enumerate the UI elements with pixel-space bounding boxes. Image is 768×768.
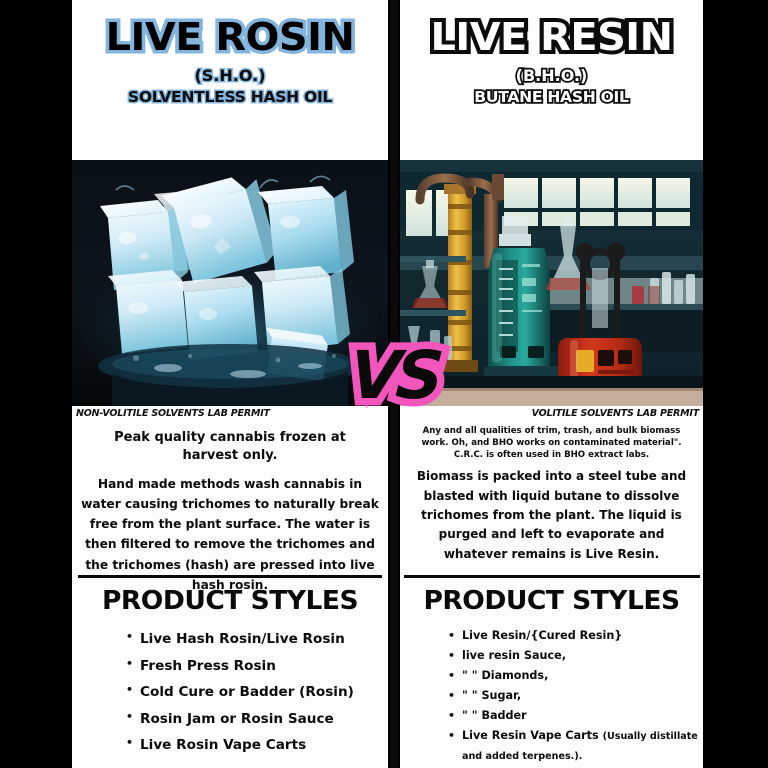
list-item: live resin Sauce,	[462, 646, 703, 666]
body-left: Peak quality cannabis frozen at harvest …	[72, 419, 388, 595]
versus-label: VS	[347, 337, 441, 414]
list-item-main: Live Resin Vape Carts	[462, 729, 603, 742]
list-item: Live Rosin Vape Carts	[140, 732, 388, 759]
lead-text-left: Peak quality cannabis frozen at harvest …	[88, 429, 372, 464]
versus-badge: VS	[333, 326, 455, 424]
header-live-rosin: LIVE ROSIN (S.H.O.) SOLVENTLESS HASH OIL	[72, 18, 388, 160]
list-item: Live Hash Rosin/Live Rosin	[140, 626, 388, 653]
list-item: Live Resin Vape Carts (Usually distillat…	[462, 726, 703, 766]
list-item-main: " " Badder	[462, 709, 527, 722]
comparison-infographic: LIVE ROSIN (S.H.O.) SOLVENTLESS HASH OIL	[0, 0, 768, 768]
divider-rule-left	[78, 575, 382, 578]
abbr-live-rosin: (S.H.O.)	[72, 66, 388, 85]
list-item: Live Resin/{Cured Resin}	[462, 626, 703, 646]
list-item: " " Sugar,	[462, 686, 703, 706]
list-item: Rosin Jam or Rosin Sauce	[140, 706, 388, 733]
product-styles-right: PRODUCT STYLES Live Resin/{Cured Resin}l…	[400, 586, 703, 766]
styles-list-right: Live Resin/{Cured Resin}live resin Sauce…	[462, 626, 703, 766]
styles-title-right: PRODUCT STYLES	[400, 586, 703, 616]
divider-rule-right	[404, 575, 700, 578]
subtitle-live-resin: BUTANE HASH OIL	[400, 88, 703, 106]
lead-text-right: Any and all qualities of trim, trash, an…	[420, 425, 683, 461]
list-item: " " Diamonds,	[462, 666, 703, 686]
title-live-resin: LIVE RESIN	[400, 18, 703, 56]
list-item-main: live resin Sauce,	[462, 649, 566, 662]
list-item-main: " " Sugar,	[462, 689, 521, 702]
title-live-rosin: LIVE ROSIN	[72, 18, 388, 56]
list-item: Fresh Press Rosin	[140, 653, 388, 680]
body-right: Any and all qualities of trim, trash, an…	[400, 419, 703, 564]
body-text-right: Biomass is packed into a steel tube and …	[408, 467, 695, 564]
list-item-main: Live Resin/{Cured Resin}	[462, 629, 622, 642]
abbr-live-resin: (B.H.O.)	[400, 66, 703, 85]
list-item-main: " " Diamonds,	[462, 669, 548, 682]
subtitle-live-rosin: SOLVENTLESS HASH OIL	[72, 88, 388, 106]
list-item: " " Badder	[462, 706, 703, 726]
styles-title-left: PRODUCT STYLES	[72, 586, 388, 616]
list-item: Cold Cure or Badder (Rosin)	[140, 679, 388, 706]
styles-list-left: Live Hash Rosin/Live RosinFresh Press Ro…	[140, 626, 388, 759]
header-live-resin: LIVE RESIN (B.H.O.) BUTANE HASH OIL	[400, 18, 703, 160]
product-styles-left: PRODUCT STYLES Live Hash Rosin/Live Rosi…	[72, 586, 388, 759]
